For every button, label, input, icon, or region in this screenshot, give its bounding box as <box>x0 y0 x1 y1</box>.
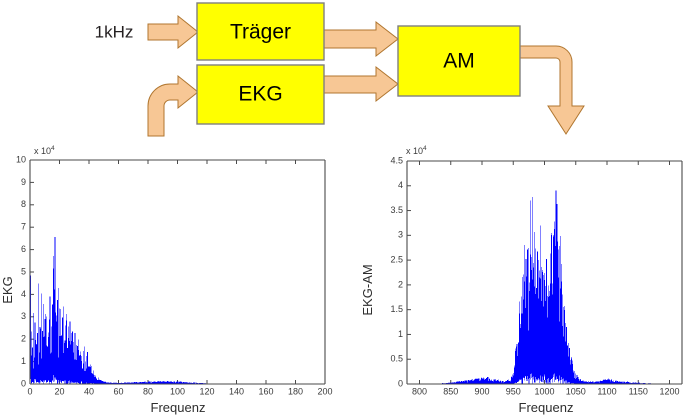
x-tick-label: 0 <box>27 386 32 396</box>
x-tick-label: 1050 <box>566 386 586 396</box>
block-ekg-label: EKG <box>238 83 282 106</box>
chart-ekg-am-spectrum: 00.511.522.533.544.580085090095010001050… <box>350 140 697 420</box>
y-tick-label: 1 <box>398 329 403 339</box>
x-tick-label: 200 <box>317 386 332 396</box>
y-tick-label: 10 <box>16 154 26 164</box>
svg-text:x 104: x 104 <box>406 145 427 156</box>
arrow-traeger-to-am <box>324 22 398 56</box>
x-tick-label: 1150 <box>629 386 648 396</box>
x-tick-label: 160 <box>258 386 273 396</box>
y-tick-label: 0 <box>398 378 403 388</box>
svg-text:x 104: x 104 <box>34 145 55 156</box>
x-tick-label: 180 <box>288 386 303 396</box>
block-am-label: AM <box>443 50 475 73</box>
x-tick-label: 1200 <box>659 386 679 396</box>
y-tick-label: 2 <box>21 334 26 344</box>
y-tick-label: 4 <box>398 180 403 190</box>
y-tick-label: 5 <box>21 266 26 276</box>
left-exponent-label: x 10 <box>34 146 51 156</box>
y-tick-label: 4 <box>21 289 26 299</box>
source-frequency-label: 1kHz <box>95 22 134 41</box>
block-ekg: EKG <box>197 65 324 124</box>
right-exponent-label: x 10 <box>406 146 423 156</box>
left-x-axis-label: Frequenz <box>151 400 206 415</box>
block-traeger: Träger <box>197 3 324 60</box>
left-y-axis-label: EKG <box>0 276 15 303</box>
x-tick-label: 60 <box>113 386 123 396</box>
y-tick-label: 6 <box>21 244 26 254</box>
x-tick-label: 850 <box>443 386 458 396</box>
y-tick-label: 4.5 <box>390 155 403 165</box>
arrow-curved-to-ekg <box>148 76 198 136</box>
y-tick-label: 7 <box>21 222 26 232</box>
x-tick-label: 40 <box>84 386 94 396</box>
y-tick-label: 0 <box>21 378 26 388</box>
x-tick-label: 950 <box>506 386 521 396</box>
arrow-1khz-to-traeger <box>148 16 198 48</box>
x-tick-label: 120 <box>199 386 214 396</box>
block-diagram: Träger EKG AM 1kHz <box>0 0 697 140</box>
x-tick-label: 1000 <box>534 386 554 396</box>
x-tick-label: 100 <box>170 386 185 396</box>
x-tick-label: 900 <box>474 386 489 396</box>
y-tick-label: 2.5 <box>390 254 403 264</box>
y-tick-label: 0.5 <box>390 354 403 364</box>
y-tick-label: 3 <box>398 230 403 240</box>
arrow-am-output <box>520 46 584 134</box>
block-am: AM <box>398 26 520 96</box>
y-tick-label: 2 <box>398 279 403 289</box>
y-tick-label: 8 <box>21 199 26 209</box>
y-tick-label: 1 <box>21 356 26 366</box>
y-tick-label: 3.5 <box>390 205 403 215</box>
spectrum-trace <box>407 190 682 384</box>
left-exponent-sup: 4 <box>51 145 55 152</box>
y-tick-label: 3 <box>21 311 26 321</box>
x-tick-label: 800 <box>412 386 427 396</box>
right-y-axis-label: EKG-AM <box>360 264 375 315</box>
right-x-axis-label: Frequenz <box>519 400 574 415</box>
y-tick-label: 1.5 <box>390 304 403 314</box>
x-tick-label: 20 <box>54 386 64 396</box>
x-tick-label: 140 <box>229 386 244 396</box>
x-tick-label: 1100 <box>597 386 616 396</box>
block-traeger-label: Träger <box>230 21 291 44</box>
chart-ekg-spectrum: 012345678910020406080100120140160180200 … <box>0 140 350 420</box>
arrow-ekg-to-am <box>324 67 398 101</box>
x-tick-label: 80 <box>143 386 153 396</box>
spectrum-trace <box>30 237 325 384</box>
right-exponent-sup: 4 <box>423 145 427 152</box>
y-tick-label: 9 <box>21 177 26 187</box>
